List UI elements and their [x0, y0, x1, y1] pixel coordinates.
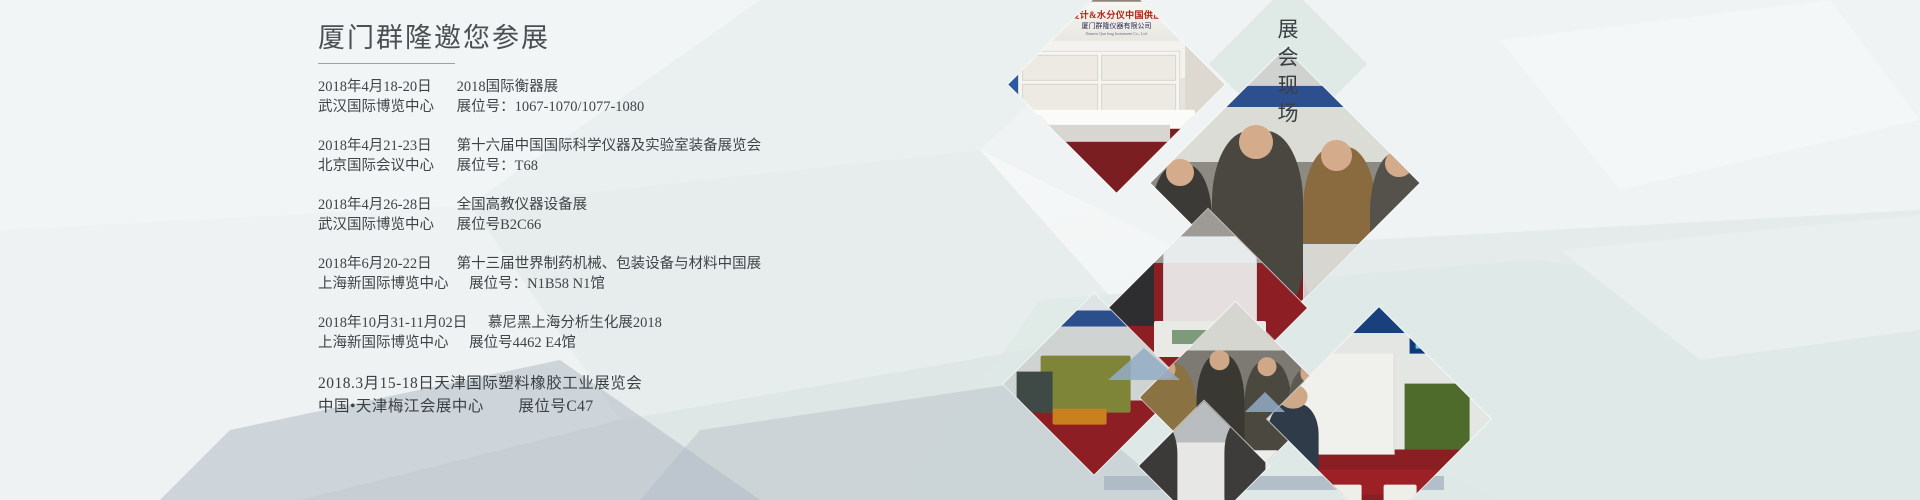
event-date: 2018年6月20-22日: [318, 254, 436, 274]
event-name: 慕尼黑上海分析生化展2018: [471, 313, 662, 333]
event-date: 2018年4月21-23日: [318, 136, 436, 156]
event-date: 2018年10月31-11月02日: [318, 313, 467, 333]
right-booth-photo: [1267, 307, 1490, 500]
event-venue: 武汉国际博览中心: [318, 97, 436, 117]
event-date: 2018年4月18-20日: [318, 77, 436, 97]
event-venue: 武汉国际博览中心: [318, 215, 436, 235]
event-venue: 中国•天津梅江会展中心: [318, 395, 484, 418]
event-date: 2018.3月15-18日天津国际塑料橡胶工业展览会: [318, 372, 642, 395]
event-booth: 展位号：N1B58 N1馆: [452, 274, 605, 294]
event-name: 第十三届世界制药机械、包装设备与材料中国展: [440, 254, 762, 274]
booth-sign-line1: 密度计&水分仪中国供应商: [1061, 7, 1172, 20]
exhibition-banner: 厦门群隆邀您参展 2018年4月18-20日 2018国际衡器展 武汉国际博览中…: [0, 0, 1920, 500]
event-booth: 展位号C47: [488, 395, 593, 418]
booth-sign-line3: Xiamen Qun long Instrument Co., Ltd.: [1085, 30, 1147, 35]
event-name: 第十六届中国国际科学仪器及实验室装备展览会: [440, 136, 762, 156]
event-booth: 展位号4462 E4馆: [452, 333, 576, 353]
event-item: 2018年10月31-11月02日 慕尼黑上海分析生化展2018 上海新国际博览…: [318, 313, 1018, 353]
accent-triangle-small: [1245, 392, 1285, 412]
event-name: 2018国际衡器展: [440, 77, 559, 97]
page-title: 厦门群隆邀您参展: [318, 22, 1018, 64]
event-venue: 北京国际会议中心: [318, 156, 436, 176]
booth-sign-line2: 厦门群隆仪器有限公司: [1081, 20, 1151, 30]
event-list-panel: 厦门群隆邀您参展 2018年4月18-20日 2018国际衡器展 武汉国际博览中…: [318, 22, 1018, 437]
event-booth: 展位号B2C66: [440, 215, 542, 235]
title-underline: [318, 63, 455, 64]
event-venue: 上海新国际博览中心: [318, 333, 449, 353]
event-date: 2018年4月26-28日: [318, 195, 436, 215]
event-booth: 展位号：1067-1070/1077-1080: [440, 97, 645, 117]
event-item: 2018年6月20-22日 第十三届世界制药机械、包装设备与材料中国展 上海新国…: [318, 254, 1018, 294]
event-name: 全国高教仪器设备展: [440, 195, 588, 215]
event-booth: 展位号：T68: [440, 156, 538, 176]
event-item: 2018.3月15-18日天津国际塑料橡胶工业展览会 中国•天津梅江会展中心 展…: [318, 372, 1018, 418]
section-caption: 展会现场: [1272, 18, 1302, 130]
event-item: 2018年4月21-23日 第十六届中国国际科学仪器及实验室装备展览会 北京国际…: [318, 136, 1018, 176]
event-venue: 上海新国际博览中心: [318, 274, 449, 294]
booth-sign: 密度计&水分仪中国供应商 厦门群隆仪器有限公司 Xiamen Qun long …: [1014, 1, 1220, 40]
event-item: 2018年4月26-28日 全国高教仪器设备展 武汉国际博览中心 展位号B2C6…: [318, 195, 1018, 235]
event-item: 2018年4月18-20日 2018国际衡器展 武汉国际博览中心 展位号：106…: [318, 77, 1018, 117]
accent-triangle-large: [1108, 348, 1180, 380]
